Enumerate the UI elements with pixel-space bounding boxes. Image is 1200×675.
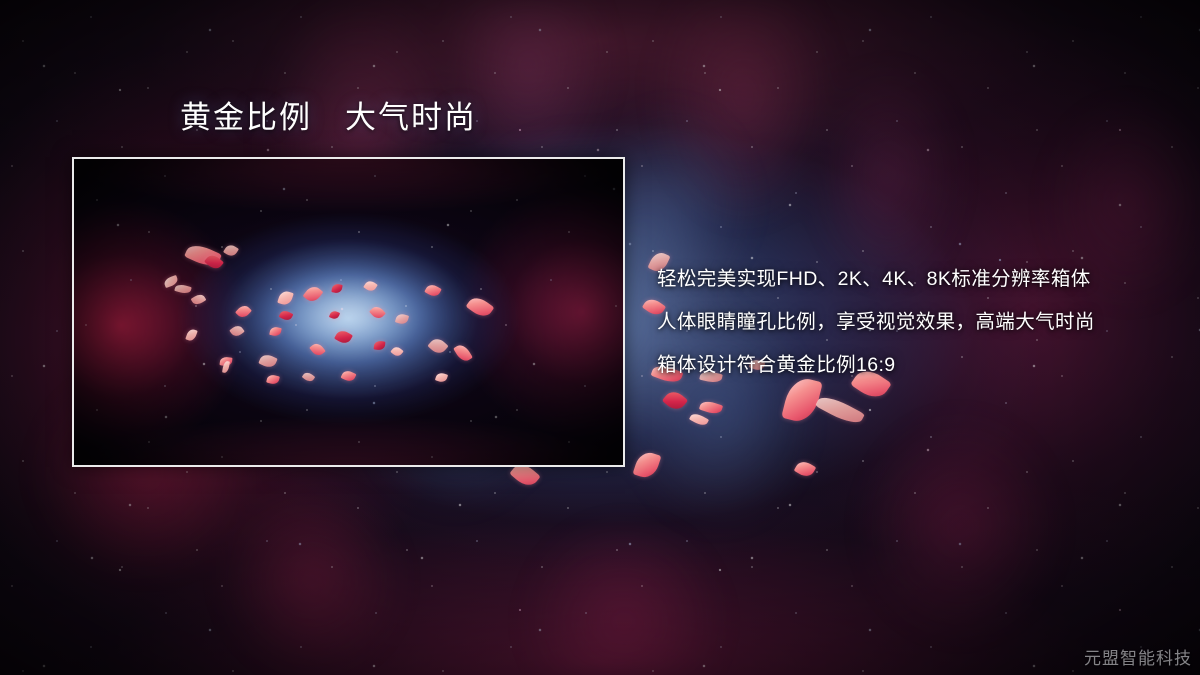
slide-canvas: 黄金比例 大气时尚 轻松完美实现FHD、2K、4K、8K标准分辨率箱体 人体眼睛… [0,0,1200,675]
petal [633,449,662,481]
brand-watermark: 元盟智能科技 [1084,644,1192,669]
page-title: 黄金比例 大气时尚 [180,100,477,137]
petal [662,388,688,414]
description-line-2: 人体眼睛瞳孔比例，享受视觉效果，高端大气时尚 [657,301,1177,344]
preview-vignette [74,159,623,465]
petal [815,392,865,429]
preview-frame[interactable] [72,157,625,467]
petal [794,458,817,479]
petal [689,411,709,427]
description-line-3: 箱体设计符合黄金比例16:9 [657,344,1177,387]
petal [699,399,723,416]
description-line-1: 轻松完美实现FHD、2K、4K、8K标准分辨率箱体 [657,258,1177,301]
feature-description: 轻松完美实现FHD、2K、4K、8K标准分辨率箱体 人体眼睛瞳孔比例，享受视觉效… [657,258,1177,387]
preview-frame-inner [74,159,623,465]
